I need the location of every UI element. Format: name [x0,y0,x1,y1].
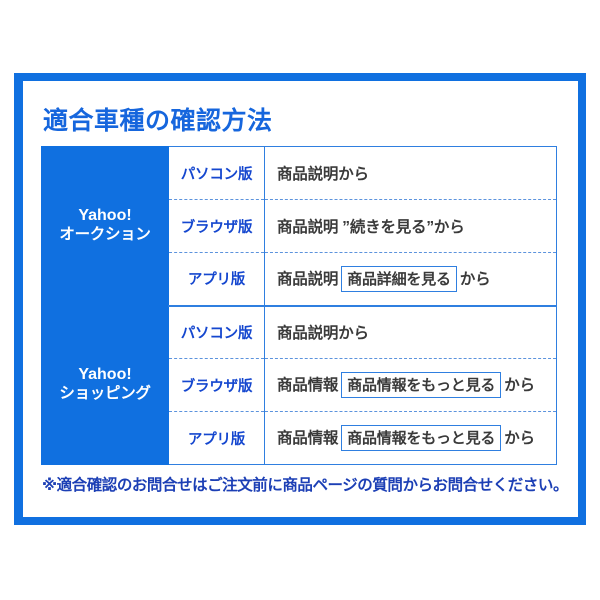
instruction-suffix: から [504,430,535,447]
boxed-link-label[interactable]: 商品情報をもっと見る [341,425,501,451]
boxed-link-label[interactable]: 商品詳細を見る [341,266,457,292]
instruction-cell: 商品説明商品詳細を見るから [265,253,557,306]
brand-name-bottom: オークション [42,226,168,244]
platform-label-browser: ブラウザ版 [169,359,265,412]
table-row: Yahoo! オークション パソコン版 商品説明から [42,147,557,200]
instruction-cell: 商品説明から [265,306,557,359]
instruction-cell: 商品説明から [265,147,557,200]
compatibility-table: Yahoo! オークション パソコン版 商品説明から ブラウザ版 商品説明 ”続… [41,146,557,465]
instruction-prefix: 商品説明 ”続きを見る”から [277,219,465,236]
instruction-prefix: 商品説明 [277,271,338,288]
platform-label-pc: パソコン版 [169,306,265,359]
footnote-note: ※適合確認のお問合せはご注文前に商品ページの質問からお問合せください。 [42,473,568,495]
page-title: 適合車種の確認方法 [43,101,273,137]
instruction-suffix: から [504,377,535,394]
table-row: Yahoo! ショッピング パソコン版 商品説明から [42,306,557,359]
brand-name-top: Yahoo! [42,207,168,226]
platform-label-app: アプリ版 [169,253,265,306]
platform-label-app: アプリ版 [169,412,265,465]
brand-name-top: Yahoo! [42,366,168,385]
instruction-cell: 商品説明 ”続きを見る”から [265,200,557,253]
instruction-cell: 商品情報商品情報をもっと見るから [265,359,557,412]
instruction-cell: 商品情報商品情報をもっと見るから [265,412,557,465]
instruction-prefix: 商品説明から [277,166,369,183]
instruction-prefix: 商品説明から [277,325,369,342]
platform-label-pc: パソコン版 [169,147,265,200]
brand-name-bottom: ショッピング [42,385,168,403]
blue-frame: 適合車種の確認方法 Yahoo! オークション パソコン版 商品説明から ブラウ… [14,73,586,525]
brand-cell-auction: Yahoo! オークション [42,147,169,306]
instruction-suffix: から [460,271,491,288]
instruction-prefix: 商品情報 [277,377,338,394]
boxed-link-label[interactable]: 商品情報をもっと見る [341,372,501,398]
content-panel: 適合車種の確認方法 Yahoo! オークション パソコン版 商品説明から ブラウ… [23,81,578,517]
platform-label-browser: ブラウザ版 [169,200,265,253]
brand-cell-shopping: Yahoo! ショッピング [42,306,169,465]
instruction-prefix: 商品情報 [277,430,338,447]
